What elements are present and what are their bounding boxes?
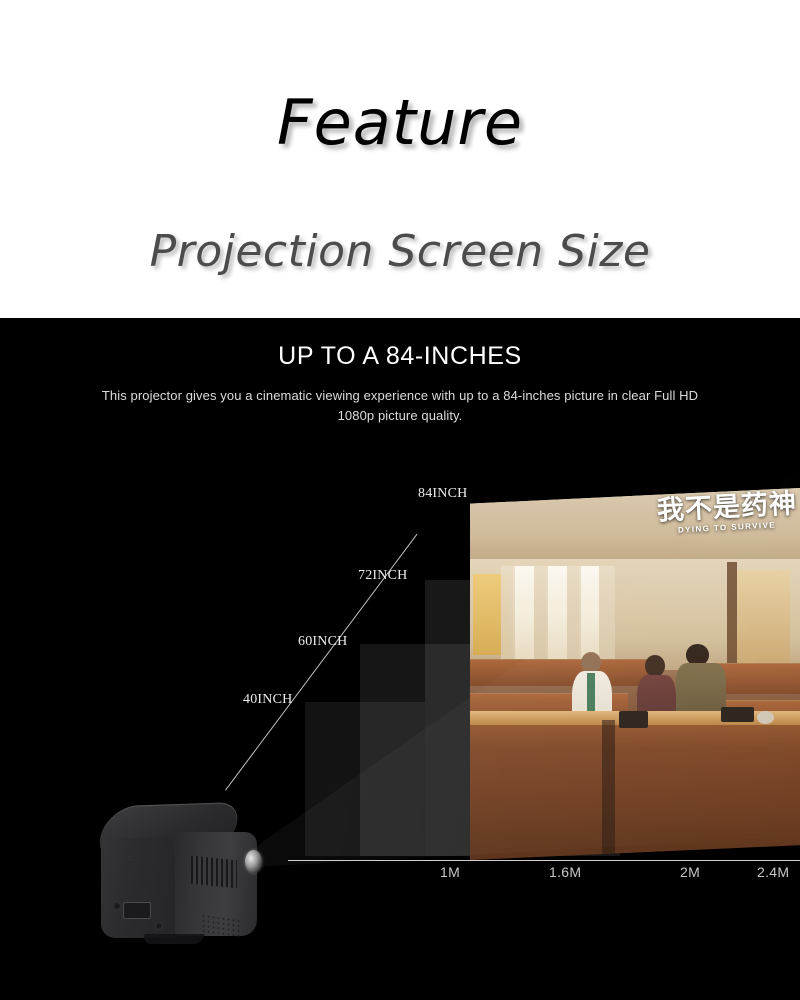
projector-jack-port (113, 902, 121, 910)
scene-door-frame (727, 562, 737, 674)
inch-label-72: 72INCH (358, 568, 407, 584)
scene-person-head (645, 655, 665, 676)
scene-desk-prop (757, 711, 774, 724)
projector-lens-icon (245, 850, 262, 873)
inch-label-60: 60INCH (298, 634, 347, 650)
screen-rect-84inch: 我不是药神 DYING TO SURVIVE (470, 488, 800, 860)
scene-doorway (737, 570, 790, 667)
projector-device (95, 798, 275, 968)
projection-size-diagram: 我不是药神 DYING TO SURVIVE 40INCH 60INCH 72I… (0, 318, 800, 1000)
scene-desk-prop (619, 711, 649, 728)
scene-bench (470, 659, 655, 686)
scene-desk-prop (721, 707, 754, 722)
projector-indicator-dot (128, 856, 132, 860)
page-subtitle: Projection Screen Size (0, 230, 800, 274)
projector-usb-port (123, 902, 151, 919)
scene-front-desk (470, 711, 800, 860)
distance-label-2-4m: 2.4M (757, 864, 789, 880)
distance-label-1-6m: 1.6M (549, 864, 581, 880)
scene-desk-gap (602, 720, 615, 860)
inch-label-84: 84INCH (418, 486, 467, 502)
projector-screw-hole (155, 922, 163, 930)
distance-label-1m: 1M (440, 864, 460, 880)
projected-movie-frame: 我不是药神 DYING TO SURVIVE (470, 488, 800, 860)
scene-window (579, 566, 599, 663)
scene-window (546, 566, 567, 663)
projector-vents (191, 856, 237, 889)
movie-title-block: 我不是药神 DYING TO SURVIVE (657, 494, 797, 532)
scene-curtain (534, 566, 547, 666)
scene-person-head (581, 652, 601, 673)
inch-label-40: 40INCH (243, 692, 292, 708)
distance-axis (288, 860, 800, 861)
distance-label-2m: 2M (680, 864, 700, 880)
movie-title-chinese: 我不是药神 (656, 490, 797, 524)
banner-section: Feature Projection Screen Size (0, 0, 800, 318)
projector-front-face (101, 838, 179, 938)
product-feature-page: Feature Projection Screen Size UP TO A 8… (0, 0, 800, 1000)
scene-curtain (501, 566, 514, 666)
scene-window (513, 566, 534, 663)
page-title: Feature (0, 92, 800, 154)
dark-feature-section: UP TO A 84-INCHES This projector gives y… (0, 318, 800, 1000)
projector-base-foot (141, 934, 204, 944)
